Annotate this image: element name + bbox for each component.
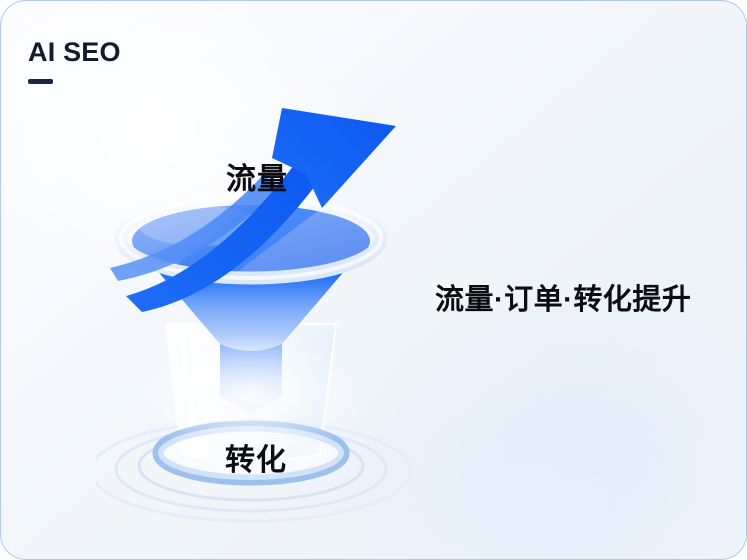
tagline-text: 流量·订单·转化提升 — [435, 276, 691, 318]
funnel-label-traffic: 流量 — [226, 154, 288, 198]
title-block: AI SEO — [28, 39, 121, 84]
page-title: AI SEO — [28, 39, 121, 66]
slide-canvas: AI SEO 流量·订单·转化提升 — [0, 0, 747, 560]
title-underline-accent — [28, 79, 53, 84]
funnel-label-conversion: 转化 — [225, 435, 287, 479]
